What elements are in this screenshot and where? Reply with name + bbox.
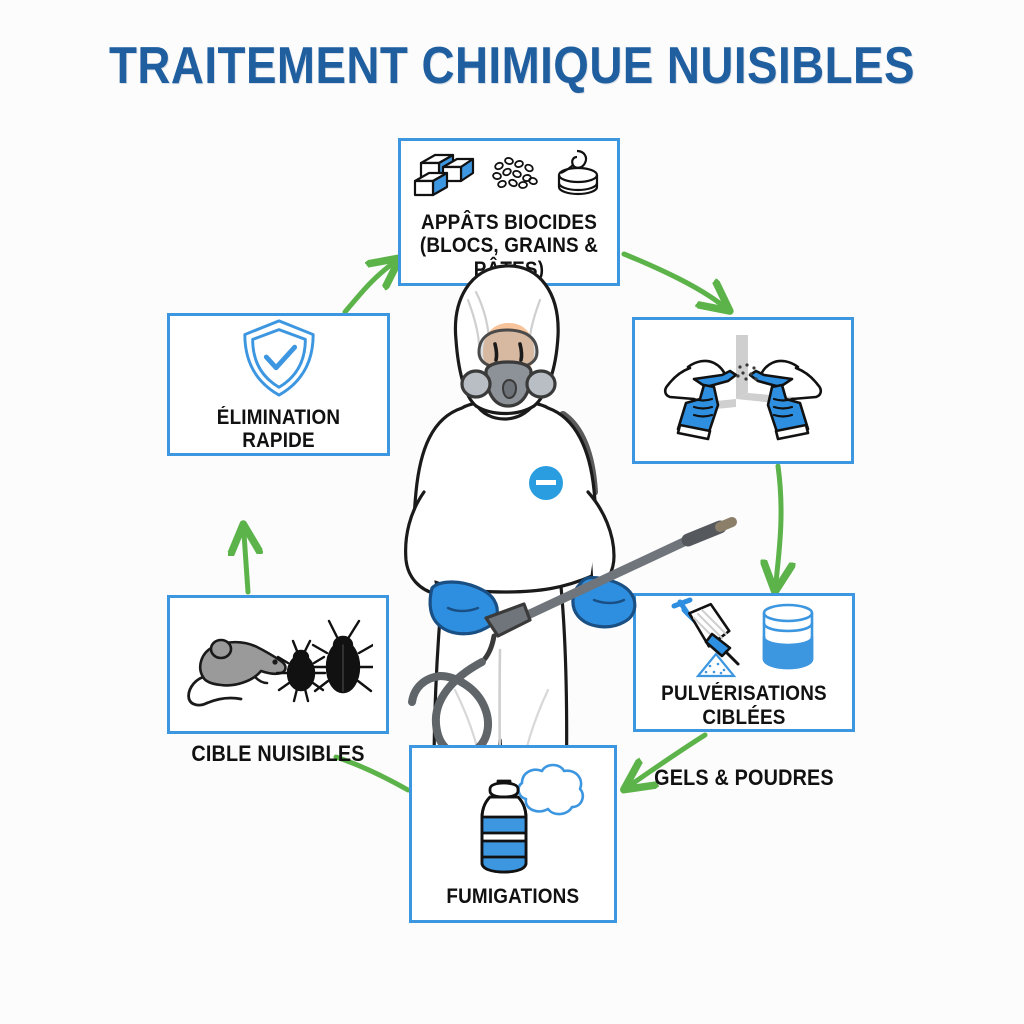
arrow-pests-to-elimination [244,534,248,592]
card-fumigations-label: FUMIGATIONS [447,885,580,909]
arrow-baits-to-spray-walls [624,254,722,305]
shield-check-icon [238,316,320,400]
card-appats-biocides[interactable]: APPÂTS BIOCIDES (BLOCS, GRAINS & PÂTES) [398,138,620,286]
page-title: TRAITEMENT CHIMIQUE NUISIBLES [61,36,962,96]
arrow-elimination-to-baits [345,264,392,312]
bait-paste-jar-icon [551,145,605,201]
cockroach-icon [311,621,373,692]
card-appats-label: APPÂTS BIOCIDES (BLOCS, GRAINS & PÂTES) [412,211,606,282]
card-fumigations[interactable]: FUMIGATIONS [409,745,617,923]
label-cible-nuisibles: CIBLE NUISIBLES [167,741,388,767]
card-appats-label-line1: APPÂTS BIOCIDES [412,211,606,235]
fog-cloud-icon [519,765,583,814]
card-cible-nuisibles[interactable] [167,595,389,734]
card-pulverisations-icons [668,596,820,678]
hand-spray-bottle-icon [644,327,842,455]
rodent-icon [189,640,286,705]
syringe-icon [668,596,746,678]
powder-jar-icon [756,601,820,673]
card-appats-icons [413,143,605,203]
bait-blocks-icon [413,143,479,203]
fumigation-icons-group [438,759,588,879]
infographic-canvas: TRAITEMENT CHIMIQUE NUISIBLES [0,0,1024,1024]
label-gels-poudres: GELS & POUDRES [637,765,851,791]
bait-grains-icon [489,150,541,196]
pests-icons-group [183,615,373,715]
card-elimination-rapide[interactable]: ÉLIMINATION RAPIDE [167,313,390,456]
card-elimination-label: ÉLIMINATION RAPIDE [181,406,376,453]
card-appats-label-line2: (BLOCS, GRAINS & PÂTES) [412,234,606,281]
card-pulverisations-ciblees[interactable]: PULVÉRISATIONS CIBLÉES [633,593,855,732]
arrow-spray-walls-to-targeted [776,466,781,582]
card-pulverisations-label: PULVÉRISATIONS CIBLÉES [647,682,841,729]
card-spray-walls[interactable] [632,317,854,464]
